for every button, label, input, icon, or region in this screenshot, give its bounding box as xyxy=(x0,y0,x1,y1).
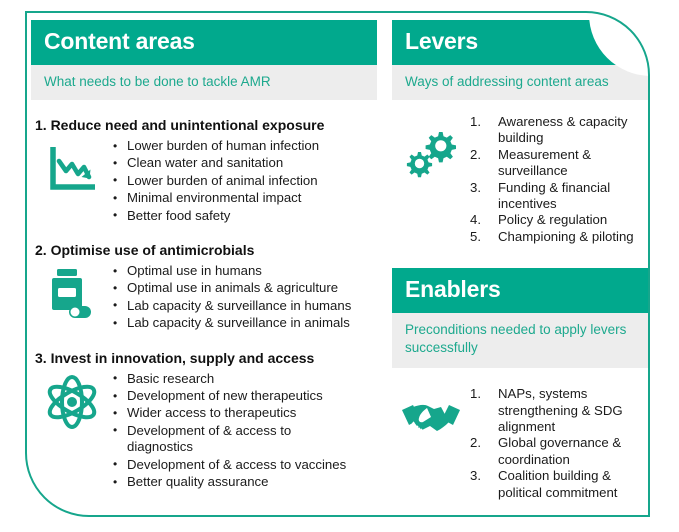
declining-chart-icon xyxy=(31,138,113,198)
enablers-subtitle: Preconditions needed to apply levers suc… xyxy=(392,313,648,368)
content-area-section-1: 1. Reduce need and unintentional exposur… xyxy=(31,117,377,225)
levers-subtitle: Ways of addressing content areas xyxy=(392,65,648,100)
content-areas-header: Content areas xyxy=(31,20,377,65)
list-item-label: Policy & regulation xyxy=(498,212,607,227)
section-3-list: Basic research Development of new therap… xyxy=(113,371,346,492)
list-item-label: Championing & piloting xyxy=(498,229,634,244)
list-item-label: Coalition building & political commitmen… xyxy=(498,468,617,499)
list-item-label: Global governance & coordination xyxy=(498,435,621,466)
list-item: Development of & access to diagnostics xyxy=(113,423,303,456)
list-item: Optimal use in humans xyxy=(113,263,351,279)
list-item: Lab capacity & surveillance in animals xyxy=(113,315,351,331)
list-item: Lower burden of animal infection xyxy=(113,173,319,189)
list-item: 1.Awareness & capacity building xyxy=(470,114,642,147)
list-item: Development of new therapeutics xyxy=(113,388,346,404)
list-item-label: NAPs, systems strengthening & SDG alignm… xyxy=(498,386,623,434)
section-3-title: 3. Invest in innovation, supply and acce… xyxy=(35,350,377,366)
list-item: Basic research xyxy=(113,371,346,387)
handshake-icon xyxy=(392,386,470,444)
list-item-label: Funding & financial incentives xyxy=(498,180,610,211)
enablers-header: Enablers xyxy=(392,268,648,313)
enablers-card: Enablers Preconditions needed to apply l… xyxy=(392,268,648,501)
list-item: 3.Coalition building & political commitm… xyxy=(470,468,642,501)
list-item: 2.Measurement & surveillance xyxy=(470,147,642,180)
list-number: 1. xyxy=(470,114,490,130)
list-item-label: Measurement & surveillance xyxy=(498,147,591,178)
list-item: Lab capacity & surveillance in humans xyxy=(113,298,351,314)
enablers-list: 1.NAPs, systems strengthening & SDG alig… xyxy=(470,386,642,501)
list-item: Better quality assurance xyxy=(113,474,346,490)
list-item: Better food safety xyxy=(113,208,319,224)
section-2-list: Optimal use in humans Optimal use in ani… xyxy=(113,263,351,333)
content-areas-subtitle: What needs to be done to tackle AMR xyxy=(31,65,377,100)
list-item: Development of & access to vaccines xyxy=(113,457,346,473)
list-item: Wider access to therapeutics xyxy=(113,405,346,421)
list-number: 5. xyxy=(470,229,490,245)
list-number: 3. xyxy=(470,180,490,196)
list-item: 1.NAPs, systems strengthening & SDG alig… xyxy=(470,386,642,435)
list-number: 4. xyxy=(470,212,490,228)
list-number: 1. xyxy=(470,386,490,402)
list-item: 3.Funding & financial incentives xyxy=(470,180,642,213)
list-item: Minimal environmental impact xyxy=(113,190,319,206)
content-area-section-2: 2. Optimise use of antimicrobials Optima… xyxy=(31,242,377,333)
atom-icon xyxy=(31,371,113,431)
list-item: Lower burden of human infection xyxy=(113,138,319,154)
list-item-label: Awareness & capacity building xyxy=(498,114,628,145)
list-number: 2. xyxy=(470,147,490,163)
section-1-title: 1. Reduce need and unintentional exposur… xyxy=(35,117,377,133)
section-1-list: Lower burden of human infection Clean wa… xyxy=(113,138,319,225)
list-item: Optimal use in animals & agriculture xyxy=(113,280,351,296)
list-number: 2. xyxy=(470,435,490,451)
list-number: 3. xyxy=(470,468,490,484)
medicine-bottle-icon xyxy=(31,263,113,323)
list-item: Clean water and sanitation xyxy=(113,155,319,171)
list-item: 2.Global governance & coordination xyxy=(470,435,642,468)
section-2-title: 2. Optimise use of antimicrobials xyxy=(35,242,377,258)
content-area-section-3: 3. Invest in innovation, supply and acce… xyxy=(31,350,377,492)
levers-list: 1.Awareness & capacity building 2.Measur… xyxy=(470,114,642,245)
content-areas-column: Content areas What needs to be done to t… xyxy=(31,20,377,492)
gears-icon xyxy=(392,114,470,180)
list-item: 4.Policy & regulation xyxy=(470,212,642,228)
levers-enablers-column: Levers Ways of addressing content areas … xyxy=(392,20,648,501)
list-item: 5.Championing & piloting xyxy=(470,229,642,245)
